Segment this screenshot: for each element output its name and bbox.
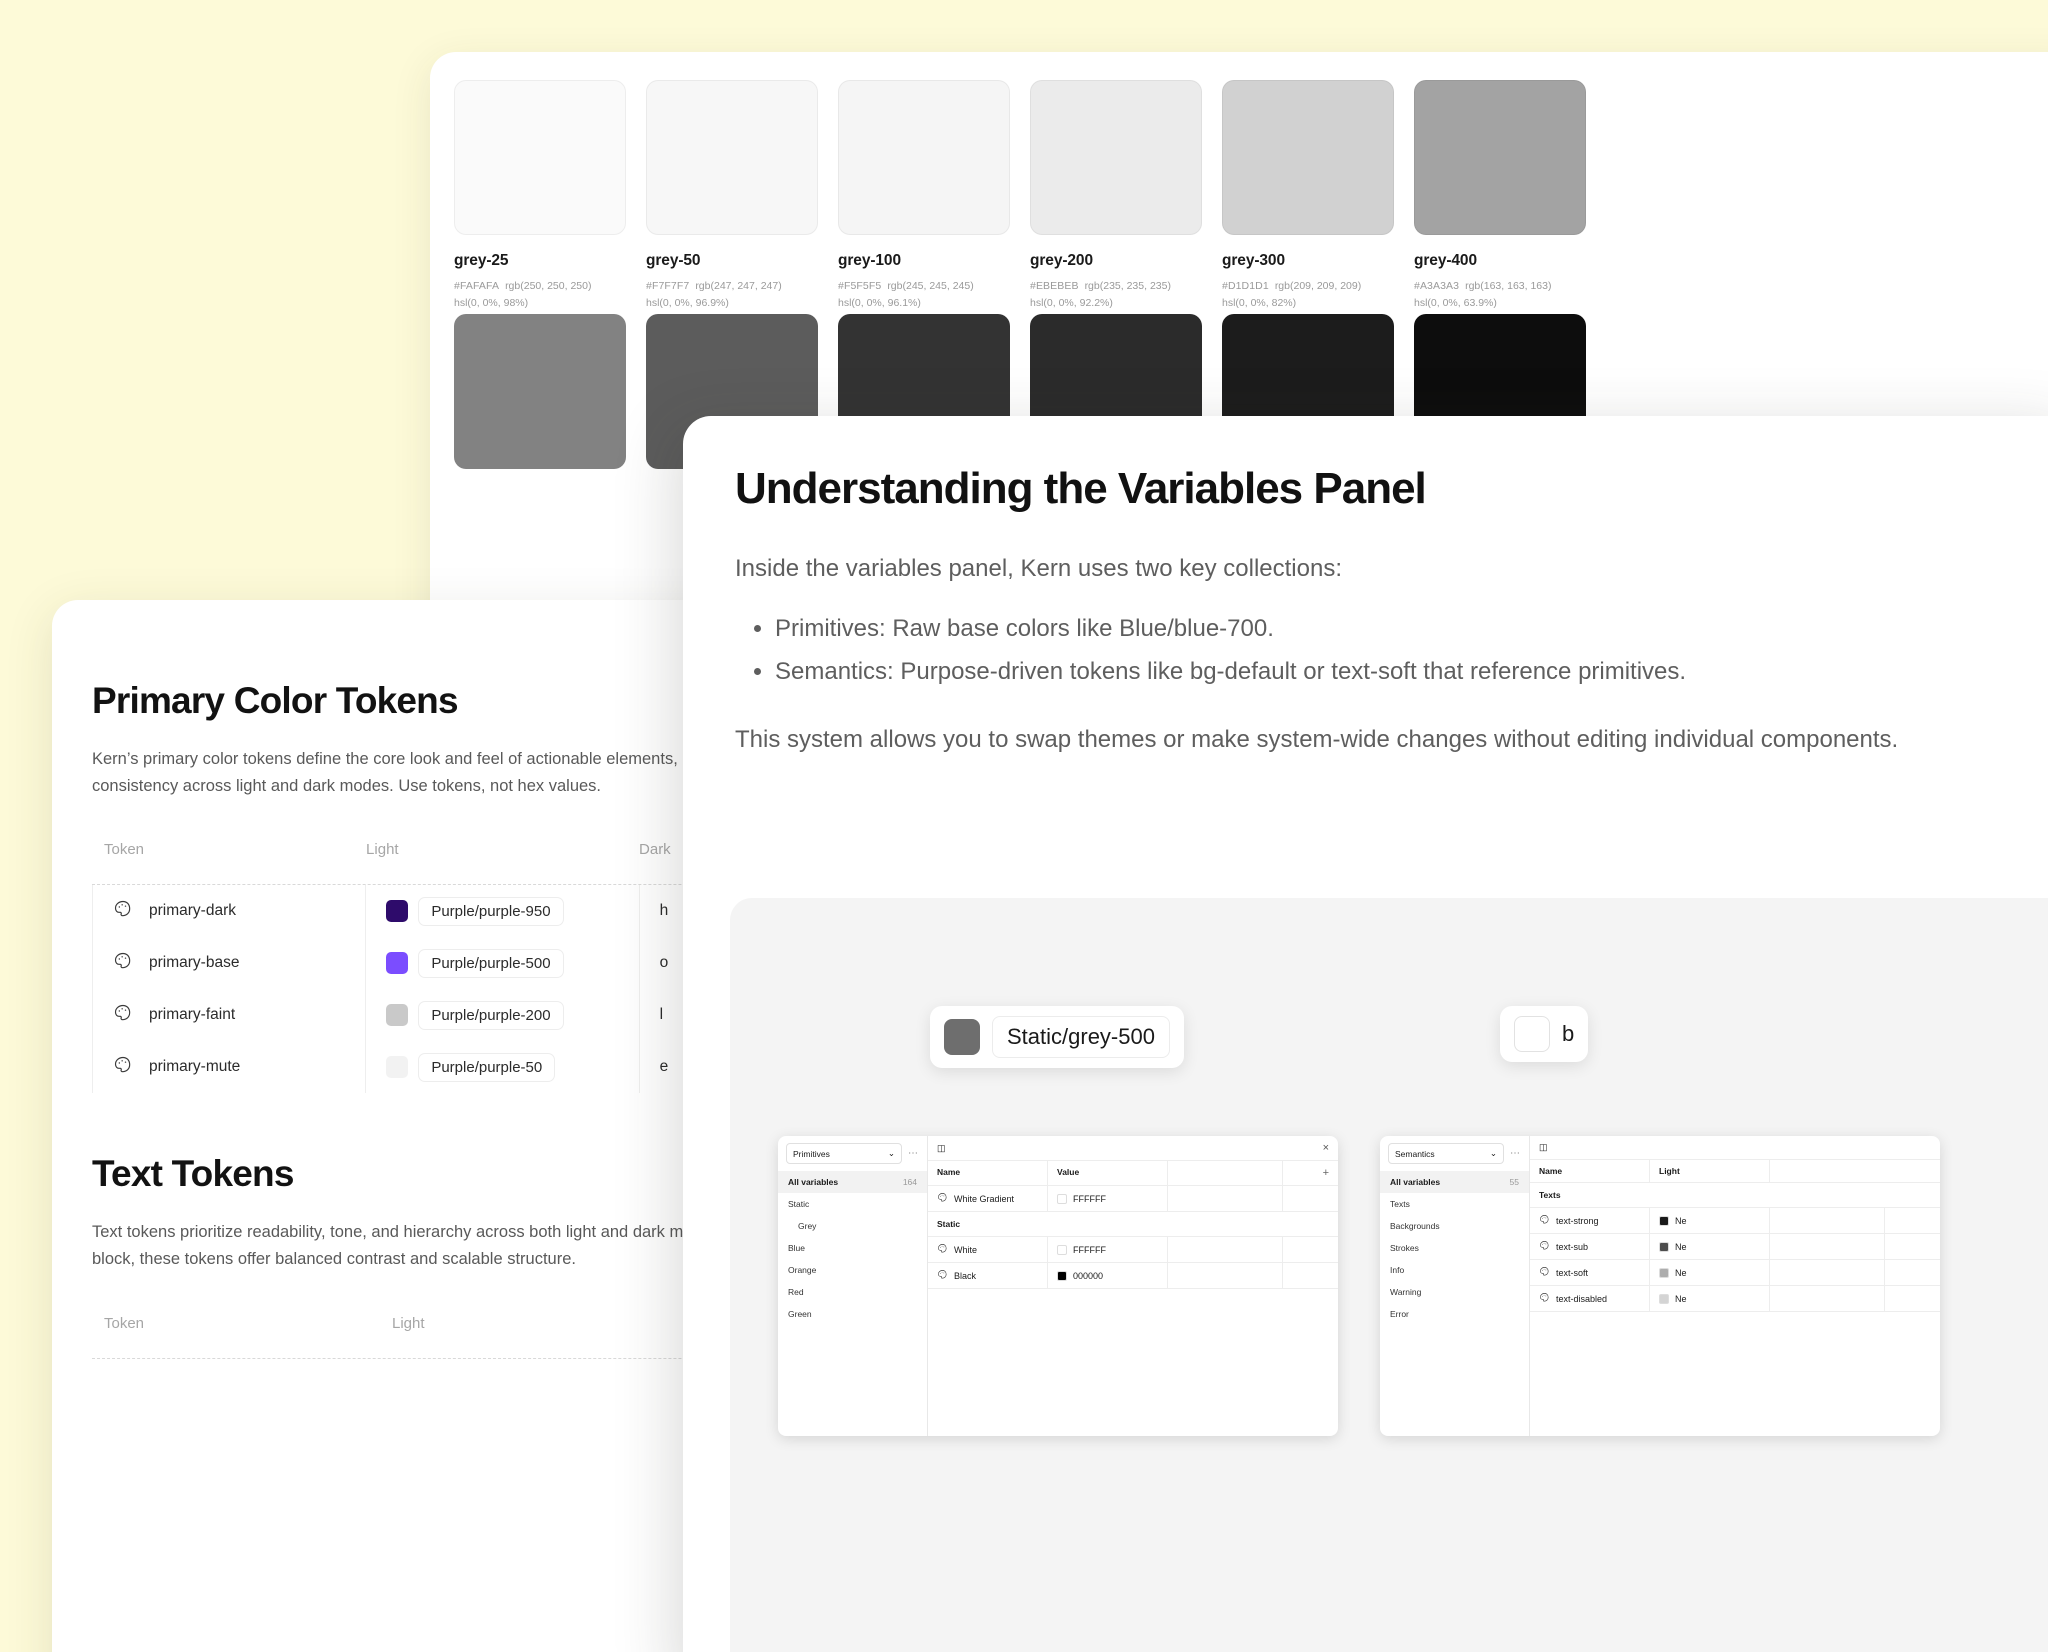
swatch-rgb: rgb(250, 250, 250) [505,280,591,292]
primitives-col-blank [1168,1161,1283,1185]
variable-value-cell[interactable]: FFFFFF [1048,1237,1168,1262]
swatch-meta: #A3A3A3rgb(163, 163, 163)hsl(0, 0%, 63.9… [1414,278,1586,312]
variable-name: White Gradient [954,1194,1014,1204]
variable-value: 000000 [1073,1271,1103,1281]
primitives-sidebar-item[interactable]: Grey [778,1215,927,1237]
swatch-color-block [1414,80,1586,235]
palette-icon [113,951,133,976]
variable-extra-cell [1283,1186,1338,1211]
dark-value: h [660,902,669,920]
token-cell: primary-base [92,937,365,989]
variable-name: Black [954,1271,976,1281]
swatch-name: grey-100 [838,252,1010,270]
primitives-sidebar-item[interactable]: Static [778,1193,927,1215]
color-chip [386,900,408,922]
light-value: Purple/purple-200 [418,1001,563,1030]
swatch-name: grey-400 [1414,252,1586,270]
variable-blank-cell [1770,1286,1885,1311]
modal-paragraph: This system allows you to swap themes or… [735,722,2031,758]
variable-name-cell: text-sub [1530,1234,1650,1259]
primitives-toolbar: ◫ × [928,1136,1338,1161]
swatch-name: grey-300 [1222,252,1394,270]
semantics-all-variables[interactable]: All variables 55 [1380,1171,1529,1193]
panel-layout-icon-2[interactable]: ◫ [1539,1142,1548,1153]
color-chip [386,1056,408,1078]
modal-bullet-list: Primitives: Raw base colors like Blue/bl… [735,609,2031,693]
swatch-name: grey-200 [1030,252,1202,270]
semantics-table-header: Name Light [1530,1160,1940,1183]
palette-swatch[interactable]: grey-50#F7F7F7rgb(247, 247, 247)hsl(0, 0… [646,80,818,312]
screenshot-root: grey-25#FAFAFArgb(250, 250, 250)hsl(0, 0… [0,0,2048,1652]
palette-icon-small [937,1269,948,1282]
semantics-sidebar: Semantics ⌄ ⋯ All variables 55 TextsBack… [1380,1136,1530,1436]
variable-value: FFFFFF [1073,1194,1106,1204]
swatch-hex: #EBEBEB [1030,280,1079,292]
palette-swatch[interactable]: grey-300#D1D1D1rgb(209, 209, 209)hsl(0, … [1222,80,1394,312]
variable-value: Ne [1675,1294,1687,1304]
white-chip-label: b [1562,1021,1574,1047]
palette-swatch-dark[interactable] [454,314,626,469]
semantics-variable-row[interactable]: text-disabledNe [1530,1286,1940,1312]
swatch-hex: #FAFAFA [454,280,499,292]
swatch-rgb: rgb(245, 245, 245) [887,280,973,292]
variable-extra-cell [1283,1263,1338,1288]
white-float-chip[interactable]: b [1500,1006,1588,1062]
palette-swatch[interactable]: grey-400#A3A3A3rgb(163, 163, 163)hsl(0, … [1414,80,1586,312]
primitives-sidebar-item[interactable]: Red [778,1281,927,1303]
color-chip [386,952,408,974]
variable-name-cell: text-soft [1530,1260,1650,1285]
light-value-cell[interactable]: Purple/purple-200 [365,989,638,1041]
swatch-hsl: hsl(0, 0%, 96.9%) [646,297,729,309]
semantics-variable-row[interactable]: text-subNe [1530,1234,1940,1260]
variable-name: text-strong [1556,1216,1599,1226]
semantics-all-variables-count: 55 [1510,1177,1519,1187]
white-swatch [1514,1016,1550,1052]
primitives-col-value: Value [1048,1161,1168,1185]
variable-value: Ne [1675,1268,1687,1278]
primitives-collection-row: Primitives ⌄ ⋯ [778,1136,927,1171]
primitives-sidebar-item[interactable]: Blue [778,1237,927,1259]
swatch-name: grey-50 [646,252,818,270]
header-token-2: Token [92,1315,392,1332]
dark-value: l [660,1006,663,1024]
dark-value: e [660,1058,669,1076]
variable-name-cell: White Gradient [928,1186,1048,1211]
palette-icon [113,1003,133,1028]
primitives-variable-row[interactable]: White GradientFFFFFF [928,1186,1338,1212]
variable-value-cell[interactable]: FFFFFF [1048,1186,1168,1211]
semantics-sidebar-item[interactable]: Backgrounds [1380,1215,1529,1237]
primitives-sidebar-item[interactable]: Green [778,1303,927,1325]
primitives-col-name: Name [928,1161,1048,1185]
variable-value: FFFFFF [1073,1245,1106,1255]
variable-swatch [1659,1268,1669,1278]
close-icon[interactable]: × [1323,1142,1329,1154]
swatch-color-block [646,80,818,235]
swatch-color-block [838,80,1010,235]
swatch-rgb: rgb(235, 235, 235) [1085,280,1171,292]
primitives-group-static: Static [928,1212,1338,1237]
primitives-variable-row[interactable]: WhiteFFFFFF [928,1237,1338,1263]
semantics-main: ◫ Name Light Texts text-strongNe text-su… [1530,1136,1940,1436]
variable-name-cell: Black [928,1263,1048,1288]
light-value: Purple/purple-950 [418,897,563,926]
variable-extra-cell [1885,1286,1940,1311]
variable-name: text-soft [1556,1268,1588,1278]
primitives-sidebar: Primitives ⌄ ⋯ All variables 164 StaticG… [778,1136,928,1436]
swatch-color-block [454,314,626,469]
variable-name-cell: text-strong [1530,1208,1650,1233]
swatch-hex: #A3A3A3 [1414,280,1459,292]
primitives-all-variables[interactable]: All variables 164 [778,1171,927,1193]
token-cell: primary-dark [92,885,365,937]
semantics-variable-row[interactable]: text-softNe [1530,1260,1940,1286]
header-token: Token [92,841,366,858]
palette-icon-small [1539,1292,1550,1305]
variable-value-cell[interactable]: Ne [1650,1234,1770,1259]
light-value-cell[interactable]: Purple/purple-50 [365,1041,638,1093]
primitives-variable-row[interactable]: Black000000 [928,1263,1338,1289]
variable-value: Ne [1675,1242,1687,1252]
variable-blank-cell [1770,1208,1885,1233]
palette-swatch[interactable]: grey-100#F5F5F5rgb(245, 245, 245)hsl(0, … [838,80,1010,312]
variable-extra-cell [1283,1237,1338,1262]
figma-primitives-window: Primitives ⌄ ⋯ All variables 164 StaticG… [778,1136,1338,1436]
primitives-sidebar-item[interactable]: Orange [778,1259,927,1281]
light-value: Purple/purple-50 [418,1053,555,1082]
variable-swatch [1659,1294,1669,1304]
swatch-hex: #D1D1D1 [1222,280,1269,292]
primitives-collection-label: Primitives [793,1149,830,1159]
swatch-hex: #F7F7F7 [646,280,689,292]
modal-lead-text: Inside the variables panel, Kern uses tw… [735,551,2031,587]
light-value: Purple/purple-500 [418,949,563,978]
grey-500-label: Static/grey-500 [992,1016,1170,1058]
swatch-color-block [1030,80,1202,235]
variable-name-cell: text-disabled [1530,1286,1650,1311]
swatch-color-block [1222,80,1394,235]
palette-icon [113,1055,133,1080]
semantics-col-light: Light [1650,1160,1770,1182]
semantics-sidebar-item[interactable]: Warning [1380,1281,1529,1303]
semantics-toolbar: ◫ [1530,1136,1940,1160]
variable-swatch [1057,1194,1067,1204]
variable-extra-cell [1885,1260,1940,1285]
modal-bullet-item: Semantics: Purpose-driven tokens like bg… [775,652,2031,692]
semantics-sidebar-item[interactable]: Info [1380,1259,1529,1281]
swatch-hsl: hsl(0, 0%, 96.1%) [838,297,921,309]
variable-value-cell[interactable]: Ne [1650,1260,1770,1285]
palette-icon-small [937,1192,948,1205]
semantics-collection-label: Semantics [1395,1149,1435,1159]
variable-blank-cell [1770,1234,1885,1259]
light-value-cell[interactable]: Purple/purple-500 [365,937,638,989]
token-cell: primary-faint [92,989,365,1041]
swatch-meta: #F5F5F5rgb(245, 245, 245)hsl(0, 0%, 96.1… [838,278,1010,312]
swatch-meta: #FAFAFArgb(250, 250, 250)hsl(0, 0%, 98%) [454,278,626,312]
palette-swatch[interactable]: grey-200#EBEBEBrgb(235, 235, 235)hsl(0, … [1030,80,1202,312]
swatch-color-block [454,80,626,235]
variable-value-cell[interactable]: Ne [1650,1208,1770,1233]
modal-title: Understanding the Variables Panel [735,464,2031,515]
chevron-down-icon: ⌄ [888,1148,895,1159]
swatch-hsl: hsl(0, 0%, 82%) [1222,297,1296,309]
figma-semantics-window: Semantics ⌄ ⋯ All variables 55 TextsBack… [1380,1136,1940,1436]
variable-swatch [1659,1242,1669,1252]
panel-layout-icon[interactable]: ◫ [937,1143,946,1154]
variable-swatch [1057,1271,1067,1281]
swatch-hsl: hsl(0, 0%, 98%) [454,297,528,309]
grey-500-float-chip[interactable]: Static/grey-500 [930,1006,1184,1068]
palette-icon-small [1539,1240,1550,1253]
palette-swatch[interactable]: grey-25#FAFAFArgb(250, 250, 250)hsl(0, 0… [454,80,626,312]
swatch-meta: #F7F7F7rgb(247, 247, 247)hsl(0, 0%, 96.9… [646,278,818,312]
variable-extra-cell [1885,1208,1940,1233]
token-name: primary-base [149,954,239,972]
swatch-rgb: rgb(163, 163, 163) [1465,280,1551,292]
palette-icon-small [1539,1214,1550,1227]
primitives-main: ◫ × Name Value + White GradientFFFFFF St… [928,1136,1338,1436]
semantics-col-name: Name [1530,1160,1650,1182]
swatch-meta: #EBEBEBrgb(235, 235, 235)hsl(0, 0%, 92.2… [1030,278,1202,312]
variable-extra-cell [1885,1234,1940,1259]
chevron-down-icon-2: ⌄ [1490,1148,1497,1159]
light-value-cell[interactable]: Purple/purple-950 [365,885,638,937]
variable-swatch [1057,1245,1067,1255]
palette-icon-small [1539,1266,1550,1279]
semantics-collection-row: Semantics ⌄ ⋯ [1380,1136,1529,1171]
token-name: primary-mute [149,1058,240,1076]
variable-value: Ne [1675,1216,1687,1226]
variable-value-cell[interactable]: 000000 [1048,1263,1168,1288]
swatch-rgb: rgb(209, 209, 209) [1275,280,1361,292]
primitives-collection-select[interactable]: Primitives ⌄ [786,1143,902,1164]
swatch-hex: #F5F5F5 [838,280,881,292]
primitives-add-variable-button[interactable]: + [1283,1161,1338,1185]
semantics-sidebar-item[interactable]: Strokes [1380,1237,1529,1259]
variable-name: text-disabled [1556,1294,1607,1304]
variable-blank-cell [1168,1237,1283,1262]
primitives-table-header: Name Value + [928,1161,1338,1186]
header-light-2: Light [392,1315,692,1332]
token-name: primary-faint [149,1006,235,1024]
variable-name: text-sub [1556,1242,1588,1252]
semantics-collection-select[interactable]: Semantics ⌄ [1388,1143,1504,1164]
palette-icon [113,899,133,924]
palette-swatch-row-1: grey-25#FAFAFArgb(250, 250, 250)hsl(0, 0… [454,80,1586,312]
variable-value-cell[interactable]: Ne [1650,1286,1770,1311]
semantics-sidebar-item[interactable]: Texts [1380,1193,1529,1215]
swatch-meta: #D1D1D1rgb(209, 209, 209)hsl(0, 0%, 82%) [1222,278,1394,312]
semantics-more-icon[interactable]: ⋯ [1510,1148,1521,1159]
primitives-all-variables-label: All variables [788,1177,838,1187]
modal-bullet-item: Primitives: Raw base colors like Blue/bl… [775,609,2031,649]
primitives-all-variables-count: 164 [903,1177,917,1187]
swatch-hsl: hsl(0, 0%, 63.9%) [1414,297,1497,309]
figma-variables-embed: Static/grey-500 b Primitives ⌄ ⋯ All var… [730,898,2048,1652]
semantics-variable-row[interactable]: text-strongNe [1530,1208,1940,1234]
semantics-all-variables-label: All variables [1390,1177,1440,1187]
dark-value: o [660,954,669,972]
swatch-rgb: rgb(247, 247, 247) [695,280,781,292]
semantics-group-texts: Texts [1530,1183,1940,1208]
variable-name: White [954,1245,977,1255]
variable-blank-cell [1168,1186,1283,1211]
header-light: Light [366,841,639,858]
palette-icon-small [937,1243,948,1256]
variable-blank-cell [1168,1263,1283,1288]
swatch-hsl: hsl(0, 0%, 92.2%) [1030,297,1113,309]
token-name: primary-dark [149,902,236,920]
token-cell: primary-mute [92,1041,365,1093]
swatch-name: grey-25 [454,252,626,270]
color-chip [386,1004,408,1026]
variable-blank-cell [1770,1260,1885,1285]
semantics-sidebar-item[interactable]: Error [1380,1303,1529,1325]
variable-name-cell: White [928,1237,1048,1262]
variable-swatch [1659,1216,1669,1226]
primitives-more-icon[interactable]: ⋯ [908,1148,919,1159]
grey-500-swatch [944,1019,980,1055]
